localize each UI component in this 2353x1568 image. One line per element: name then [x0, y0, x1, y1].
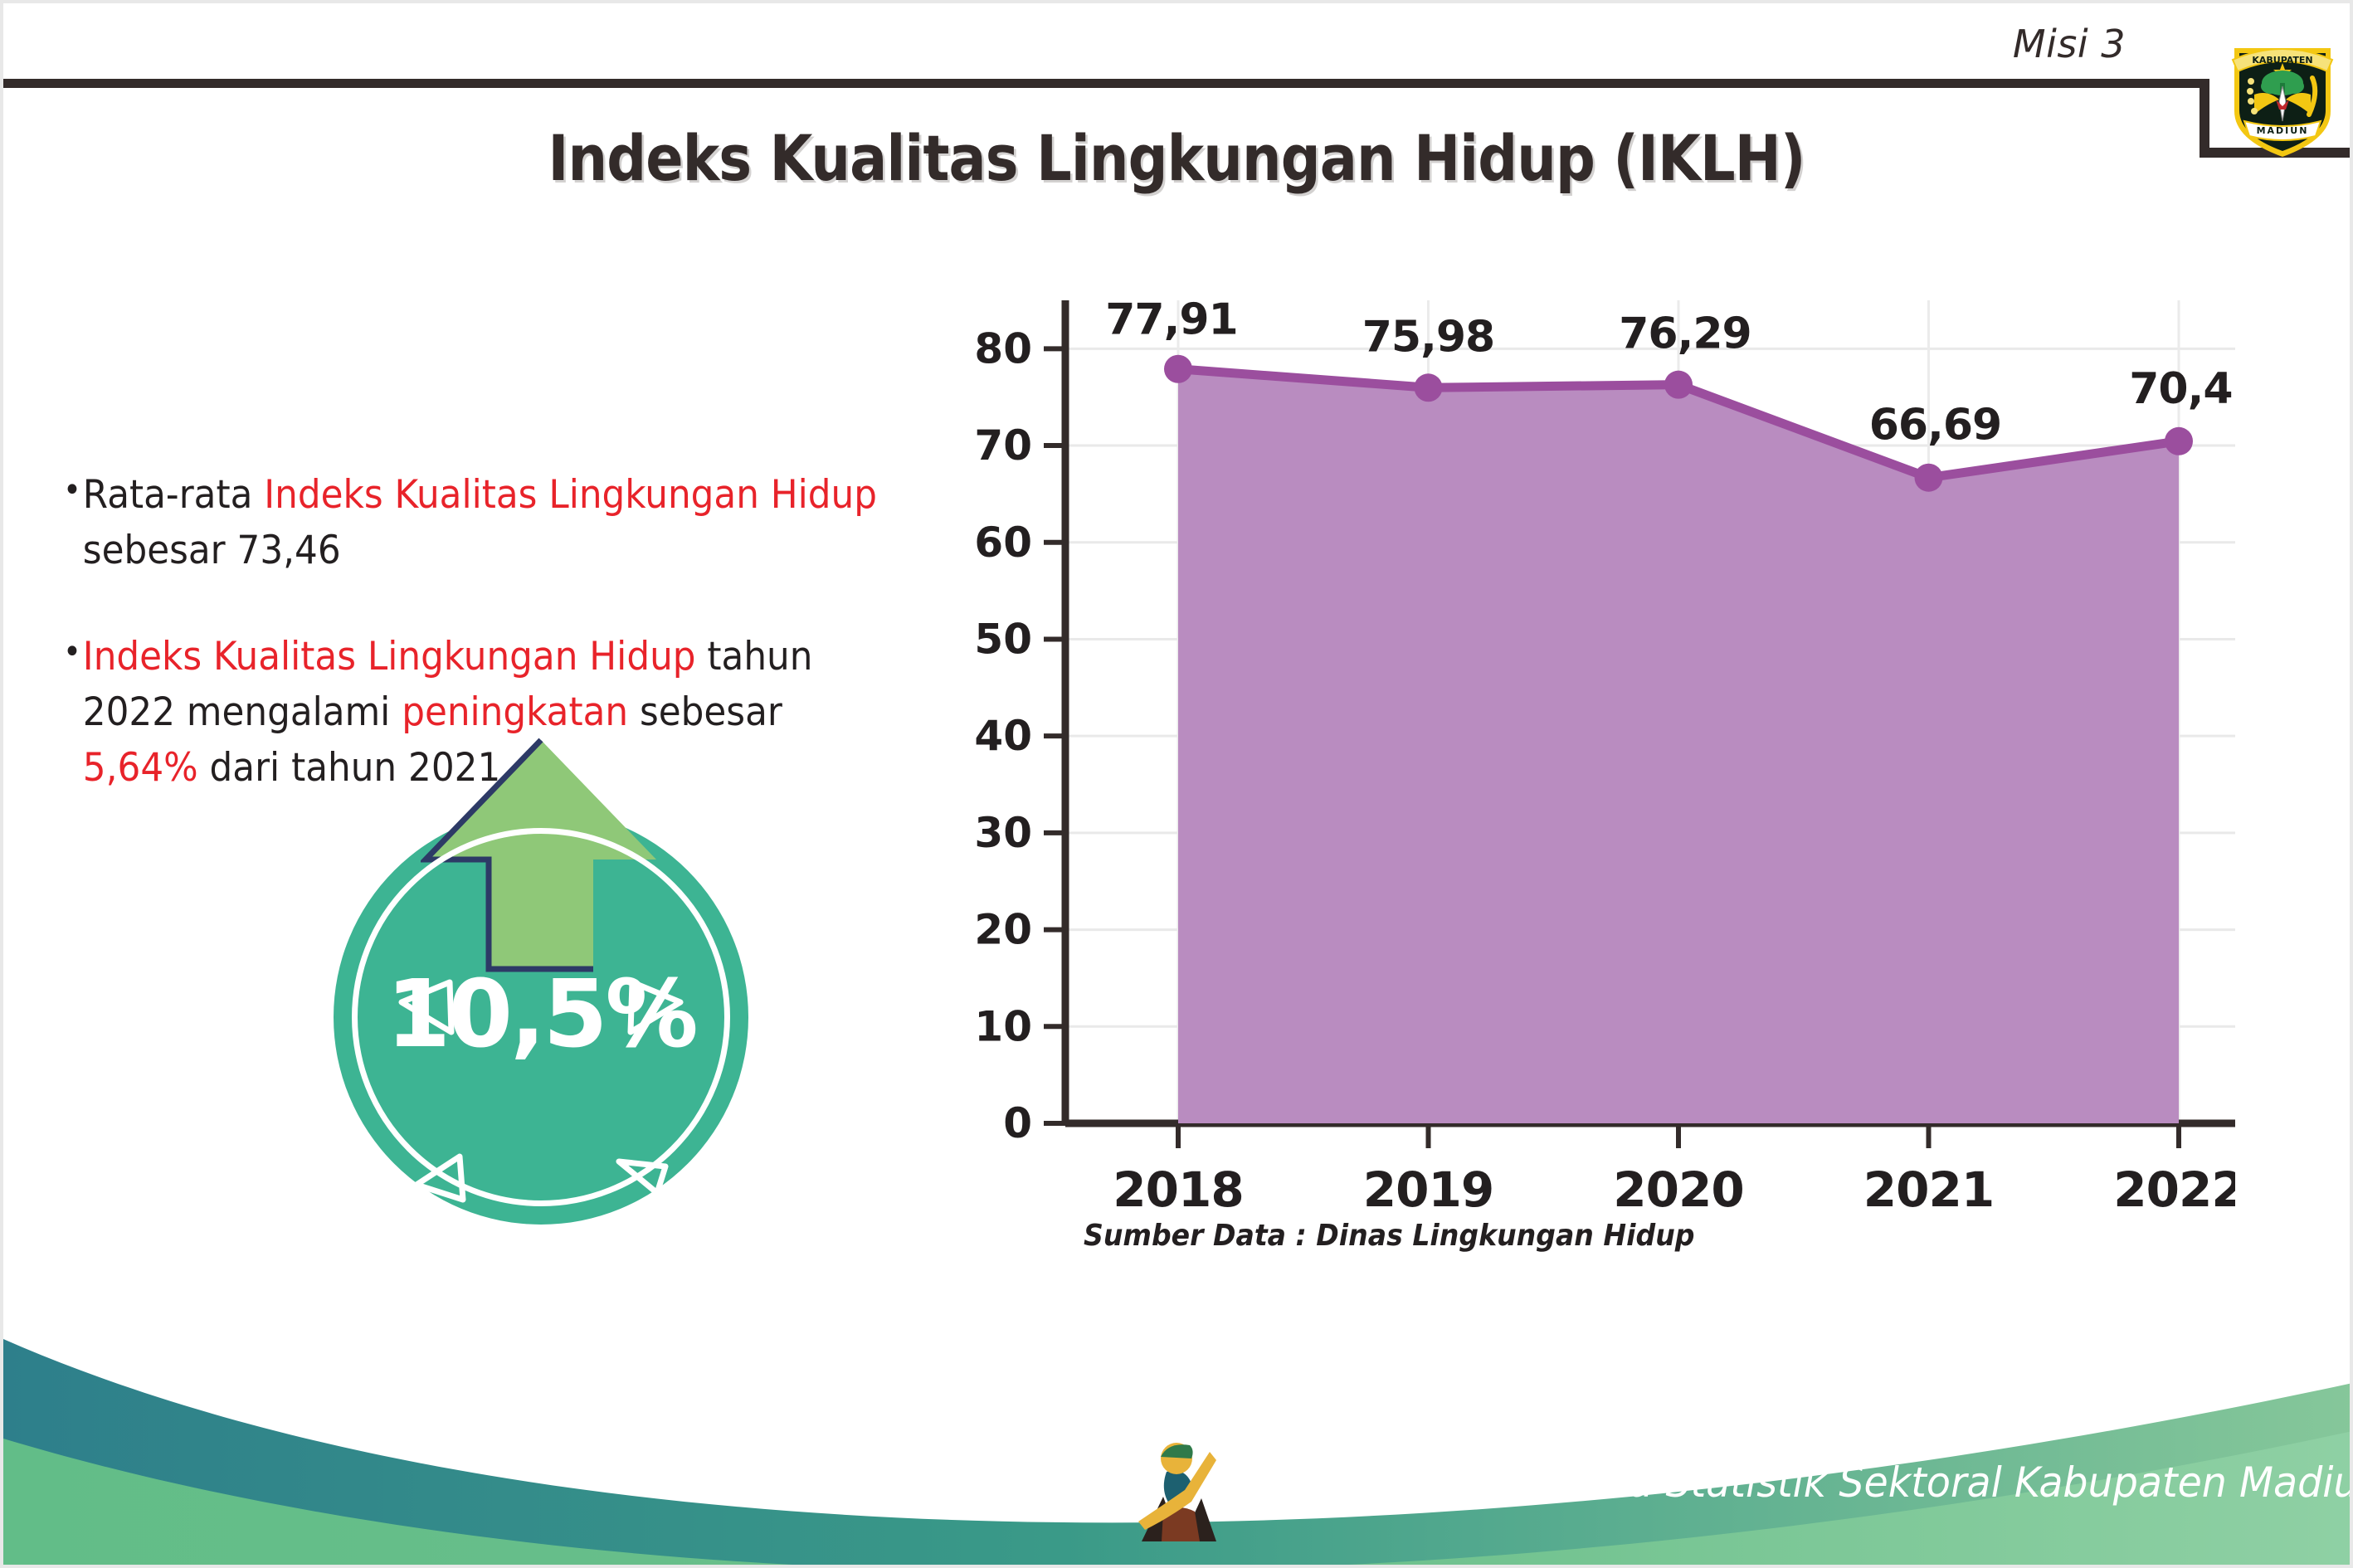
chart-value-label: 70,45 [2129, 364, 2235, 414]
bullet-text-1: Rata-rata Indeks Kualitas Lingkungan Hid… [83, 468, 904, 578]
chart-data-point [1164, 355, 1192, 383]
kabupaten-madiun-logo: KABUPATEN MADIUN [2229, 35, 2336, 159]
page-title: Indeks Kualitas Lingkungan Hidup (IKLH) [144, 121, 2209, 195]
chart-area-fill [1178, 369, 2179, 1123]
bullet-segment: sebesar [628, 689, 782, 735]
y-axis-tick-label: 0 [1003, 1099, 1032, 1147]
y-axis-tick-label: 60 [974, 519, 1032, 567]
logo-bottom-text: MADIUN [2257, 125, 2309, 136]
x-axis-tick-label: 2019 [1363, 1161, 1493, 1215]
footer-caption: Media Infografis Data Statistik Sektoral… [1230, 1458, 2353, 1507]
bullet-marker: • [63, 468, 81, 513]
y-axis-tick-label: 80 [974, 324, 1032, 373]
chart-value-label: 75,98 [1362, 312, 1494, 362]
chart-source-note: Sumber Data : Dinas Lingkungan Hidup [1084, 1219, 1694, 1253]
iklh-area-chart: 01020304050607080 77,9175,9876,2966,6970… [974, 294, 2235, 1215]
infographic-slide: Misi 3 KABUPATEN MADIUN Indeks Kualitas … [0, 0, 2353, 1568]
x-axis-tick-label: 2022 [2113, 1161, 2235, 1215]
header-divider-line [3, 79, 2209, 88]
x-axis-tick-label: 2018 [1113, 1161, 1243, 1215]
bullet-segment-highlight: Indeks Kualitas Lingkungan Hidup [83, 634, 696, 679]
chart-data-point [2165, 427, 2193, 455]
bullet-segment-highlight: 5,64% [83, 745, 198, 791]
y-axis-tick-label: 70 [974, 421, 1032, 470]
footer-banner: Media Infografis Data Statistik Sektoral… [3, 1291, 2353, 1565]
bullet-marker: • [63, 630, 81, 674]
chart-value-label: 76,29 [1619, 309, 1751, 359]
misi-label: Misi 3 [2013, 22, 2126, 66]
list-item: • Rata-rata Indeks Kualitas Lingkungan H… [63, 468, 904, 578]
y-axis-tick-label: 50 [974, 615, 1032, 663]
chart-data-point [1664, 371, 1693, 399]
y-axis-tick-label: 10 [974, 1002, 1032, 1050]
y-axis-tick-label: 20 [974, 906, 1032, 954]
badge-value: 10,5% [334, 961, 748, 1069]
chart-value-label: 66,69 [1869, 401, 2001, 450]
bullet-segment-highlight: Indeks Kualitas Lingkungan Hidup [264, 472, 877, 518]
y-axis-ticks: 01020304050607080 [974, 324, 1065, 1147]
x-axis-tick-labels: 20182019202020212022 [1113, 1161, 2235, 1215]
bullet-segment: sebesar 73,46 [83, 528, 341, 573]
x-axis-tick-label: 2020 [1613, 1161, 1743, 1215]
bullet-segment: Rata-rata [83, 472, 264, 518]
chart-canvas: 01020304050607080 77,9175,9876,2966,6970… [974, 294, 2235, 1215]
chart-data-point [1915, 464, 1943, 492]
bullet-segment-highlight: peningkatan [402, 689, 628, 735]
y-axis-tick-label: 30 [974, 809, 1032, 857]
chart-value-label: 77,91 [1105, 295, 1237, 345]
y-axis-tick-label: 40 [974, 712, 1032, 760]
increase-badge: 10,5% [334, 810, 748, 1225]
statistics-mascot-icon [1133, 1432, 1225, 1548]
chart-data-point [1415, 373, 1443, 402]
x-axis-tick-label: 2021 [1863, 1161, 1994, 1215]
